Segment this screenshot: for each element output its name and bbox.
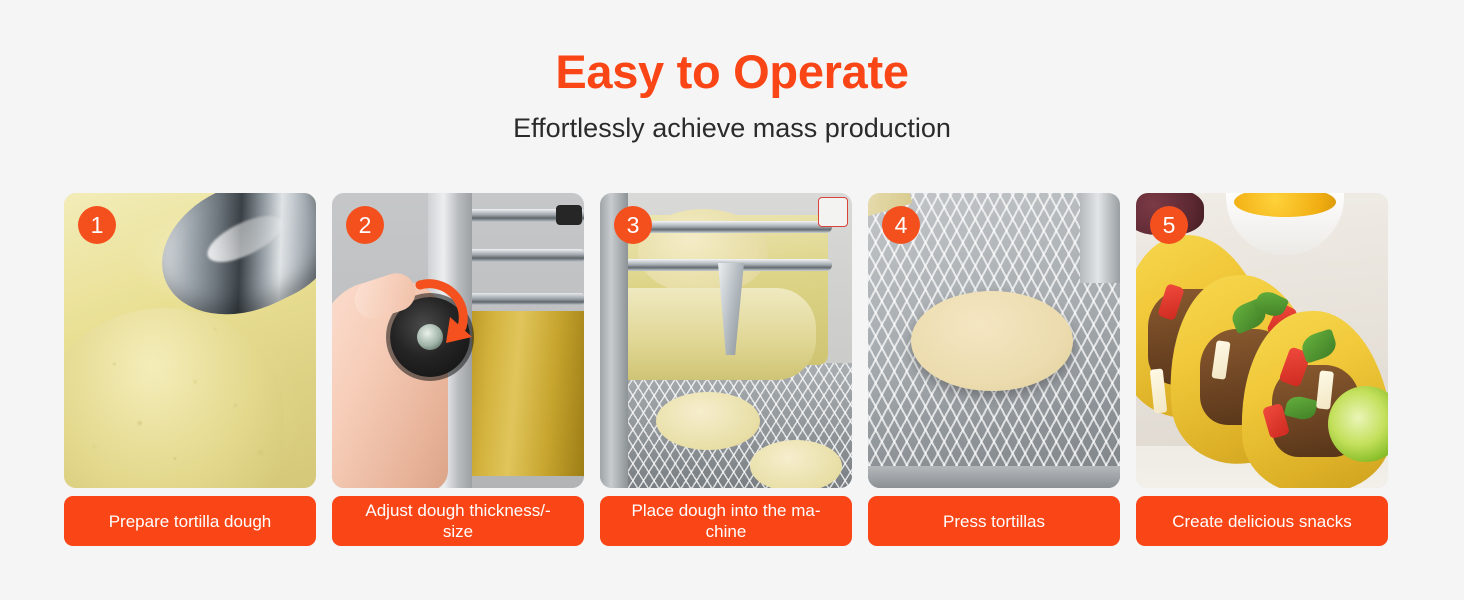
dough-disc-middle-shape (656, 392, 760, 450)
conveyor-front-lip-shape (868, 466, 1120, 488)
step-caption-1[interactable]: Prepare tortilla dough (64, 496, 316, 546)
promo-page: Easy to Operate Effortlessly achieve mas… (0, 0, 1464, 600)
step-image-2: 2 (332, 193, 584, 488)
step-badge-4: 4 (882, 206, 920, 244)
step-caption-3[interactable]: Place dough into the ma- chine (600, 496, 852, 546)
step-card-3[interactable]: 3 Place dough into the ma- chine (600, 193, 852, 546)
rail-end-cap-shape (556, 205, 582, 225)
step-caption-4[interactable]: Press tortillas (868, 496, 1120, 546)
step-badge-5: 5 (1150, 206, 1188, 244)
page-subtitle: Effortlessly achieve mass production (0, 112, 1464, 144)
warning-label-icon (818, 197, 848, 227)
step-badge-1: 1 (78, 206, 116, 244)
dough-roller-shape (616, 288, 816, 380)
page-header: Easy to Operate Effortlessly achieve mas… (0, 0, 1464, 144)
step-image-3: 3 (600, 193, 852, 488)
step-card-4[interactable]: 4 Press tortillas (868, 193, 1120, 546)
steps-row: 1 Prepare tortilla dough (64, 193, 1400, 546)
step-image-5: 5 (1136, 193, 1388, 488)
guide-rod-lower-shape (602, 259, 832, 271)
step-badge-2: 2 (346, 206, 384, 244)
step-image-1: 1 (64, 193, 316, 488)
tortilla-disc-shape (911, 291, 1073, 391)
step-caption-5[interactable]: Create delicious snacks (1136, 496, 1388, 546)
rotation-arrow-icon (414, 275, 484, 355)
step-image-4: 4 (868, 193, 1120, 488)
step-card-5[interactable]: 5 Create delicious snacks (1136, 193, 1388, 546)
step-badge-3: 3 (614, 206, 652, 244)
step-caption-2[interactable]: Adjust dough thickness/- size (332, 496, 584, 546)
step-card-1[interactable]: 1 Prepare tortilla dough (64, 193, 316, 546)
conveyor-side-rail-shape (1080, 193, 1120, 283)
cheese-bowl-shape (1226, 193, 1344, 255)
step-card-2[interactable]: 2 Adjust dough thickness/- size (332, 193, 584, 546)
page-title: Easy to Operate (0, 46, 1464, 98)
dough-disc-bottom-shape (750, 440, 842, 488)
